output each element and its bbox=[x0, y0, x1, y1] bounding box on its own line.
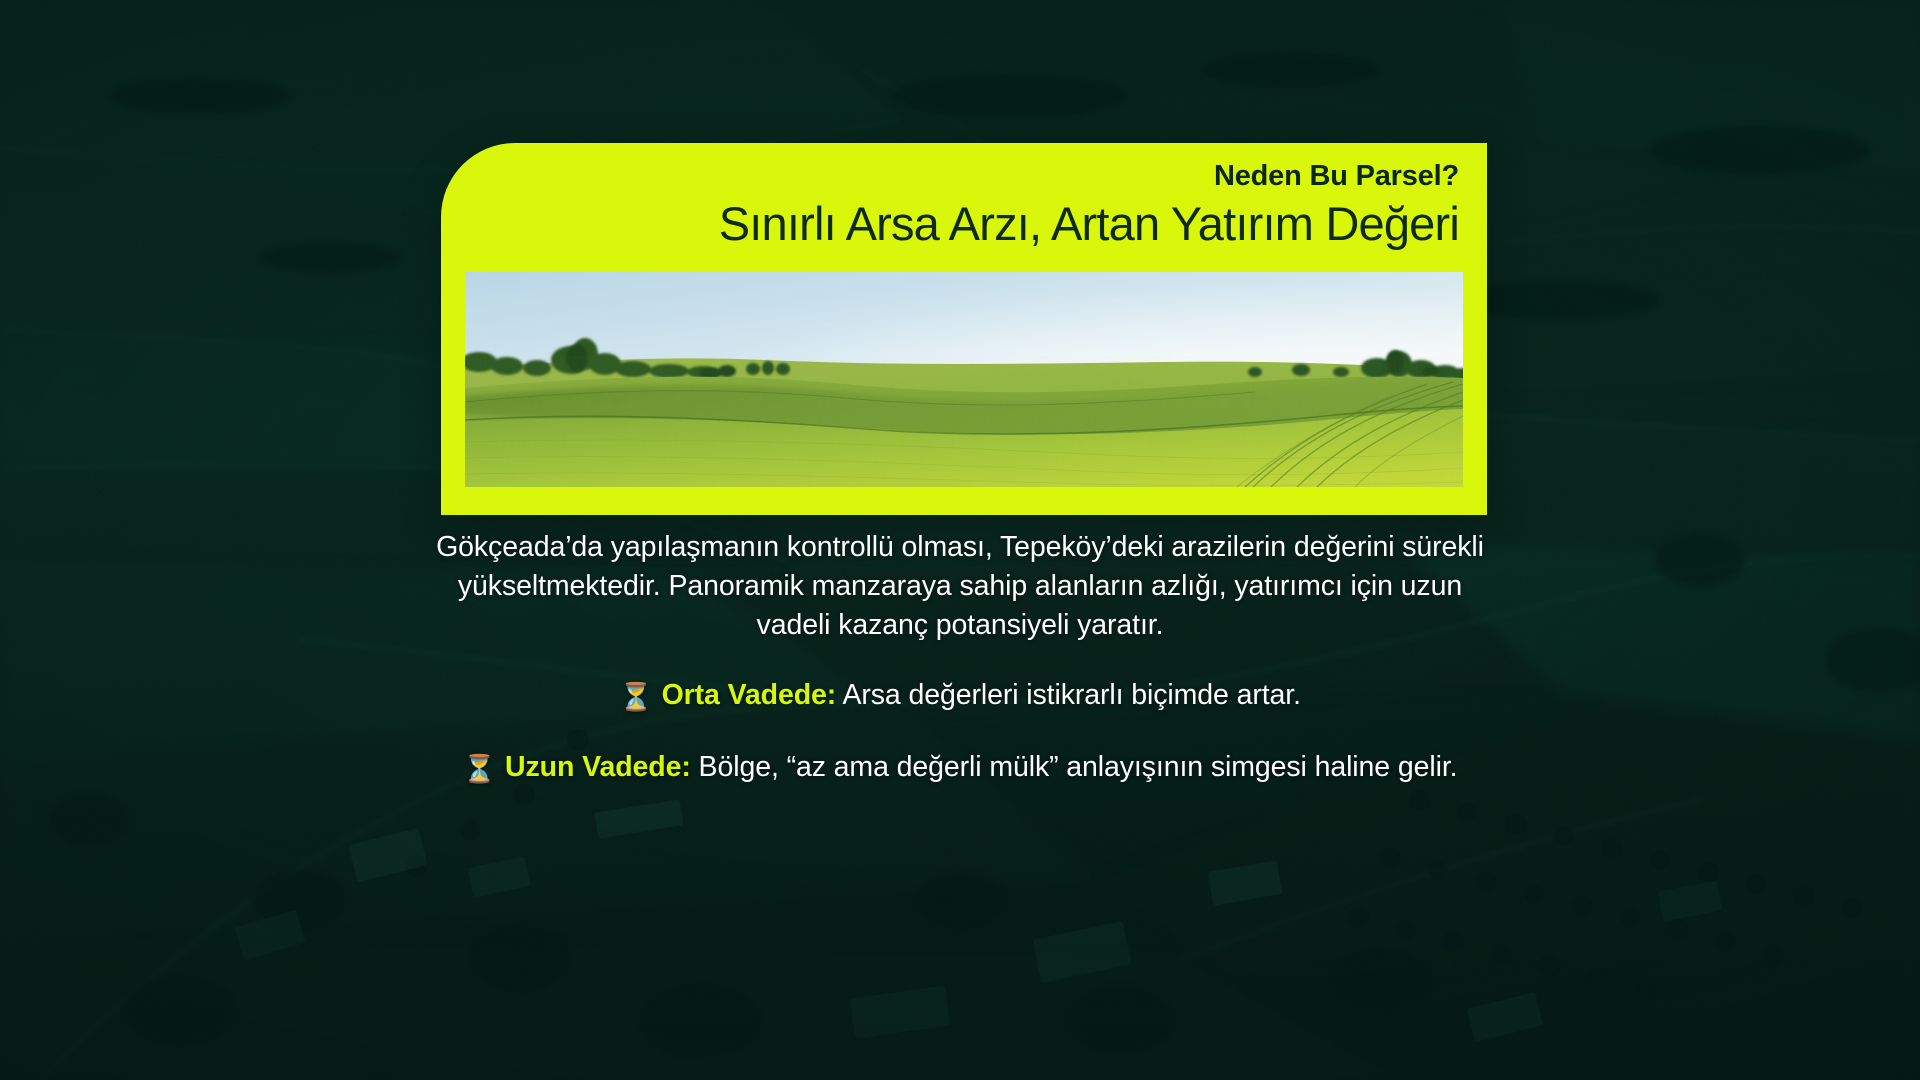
hourglass-icon: ⏳ bbox=[463, 754, 497, 784]
bullet-list: ⏳Orta Vadede: Arsa değerleri istikrarlı … bbox=[360, 676, 1560, 789]
hourglass-icon: ⏳ bbox=[619, 682, 653, 712]
list-item: ⏳Orta Vadede: Arsa değerleri istikrarlı … bbox=[360, 676, 1560, 716]
bullet-text: Bölge, “az ama değerli mülk” anlayışının… bbox=[699, 751, 1458, 783]
bullet-text: Arsa değerleri istikrarlı biçimde artar. bbox=[842, 679, 1301, 711]
landscape-photo bbox=[465, 272, 1463, 487]
list-item: ⏳Uzun Vadede: Bölge, “az ama değerli mül… bbox=[360, 748, 1560, 788]
card-heading-group: Neden Bu Parsel? Sınırlı Arsa Arzı, Arta… bbox=[469, 159, 1459, 251]
bullet-label: Orta Vadede: bbox=[662, 679, 837, 711]
highlight-card: Neden Bu Parsel? Sınırlı Arsa Arzı, Arta… bbox=[441, 143, 1487, 515]
card-headline: Sınırlı Arsa Arzı, Artan Yatırım Değeri bbox=[469, 196, 1459, 251]
card-kicker: Neden Bu Parsel? bbox=[469, 159, 1459, 194]
green-field-illustration bbox=[465, 272, 1463, 487]
body-paragraph: Gökçeada’da yapılaşmanın kontrollü olmas… bbox=[430, 528, 1490, 644]
bullet-label: Uzun Vadede: bbox=[505, 751, 691, 783]
